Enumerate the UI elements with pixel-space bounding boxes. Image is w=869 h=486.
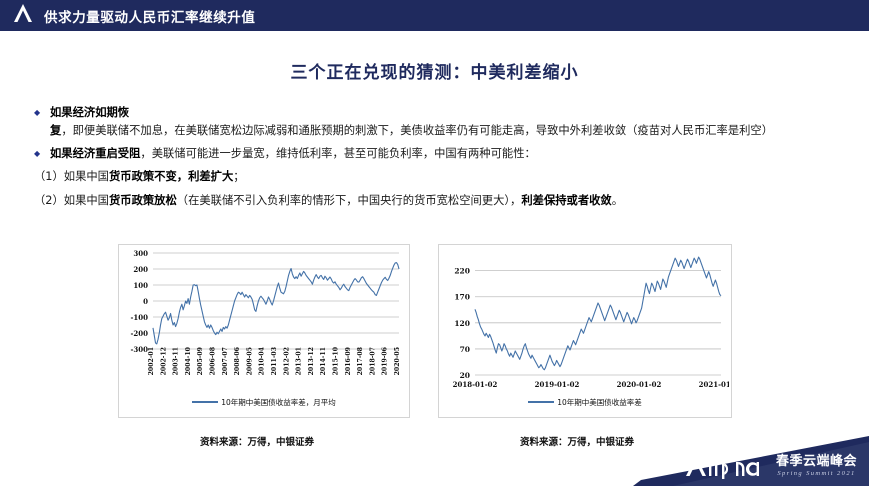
svg-text:2009-05: 2009-05 [246, 347, 253, 375]
footer-brand: 春季云端峰会 Spring Summit 2021 [633, 436, 869, 486]
numbered-tail: ； [233, 170, 244, 183]
bullet-item: ◆ 如果经济如期恢复，即便美联储不加息，在美联储宽松边际减弱和通胀预期的刺激下，… [30, 104, 848, 140]
svg-text:2021-01-02: 2021-01-02 [699, 380, 729, 389]
numbered-tail: 。 [612, 194, 623, 207]
page-title: 供求力量驱动人民币汇率继续升值 [44, 6, 256, 26]
alpha-triangle-logo-icon [12, 3, 34, 28]
svg-text:300: 300 [133, 249, 148, 258]
chart-legend: 10年期中美国债收益率差 [439, 397, 731, 408]
numbered-bold-2: 利差保持或者收敛 [521, 194, 611, 207]
numbered-bold: 货币政策放松 [109, 194, 177, 207]
svg-text:120: 120 [454, 319, 470, 328]
diamond-bullet-icon: ◆ [30, 104, 50, 122]
svg-text:0: 0 [143, 297, 148, 306]
svg-text:-200: -200 [130, 329, 148, 338]
chart-panel-monthly-spread: 3002001000-100-200-3002002-012002-122003… [118, 244, 410, 418]
svg-text:2007-07: 2007-07 [222, 347, 229, 375]
bullet-bold-lead: 如果经济重启受阻 [50, 147, 140, 160]
svg-text:2015-10: 2015-10 [333, 346, 340, 375]
svg-text:2018-01-02: 2018-01-02 [453, 380, 498, 389]
bullet-text: 如果经济如期恢复，即便美联储不加息，在美联储宽松边际减弱和通胀预期的刺激下，美债… [50, 104, 848, 140]
svg-text:2014-11: 2014-11 [320, 347, 327, 375]
svg-text:2012-02: 2012-02 [283, 347, 290, 375]
footer-logo-group: 春季云端峰会 Spring Summit 2021 [684, 453, 857, 479]
svg-text:2019-06: 2019-06 [382, 347, 389, 375]
svg-text:220: 220 [454, 267, 470, 276]
source-caption-right: 资料来源：万得，中银证券 [520, 434, 634, 448]
svg-text:2020-05: 2020-05 [394, 347, 401, 375]
alpha-wordmark-icon [684, 453, 770, 479]
svg-text:2017-08: 2017-08 [357, 347, 364, 375]
bullet-item: ◆ 如果经济重启受阻，美联储可能进一步量宽，维持低利率，甚至可能负利率，中国有两… [30, 145, 848, 163]
bullet-rest: ，即便美联储不加息，在美联储宽松边际减弱和通胀预期的刺激下，美债收益率仍有可能走… [61, 124, 773, 137]
svg-text:170: 170 [454, 293, 470, 302]
svg-text:2002-12: 2002-12 [160, 347, 167, 375]
line-chart-daily: 22017012070202018-01-022019-01-022020-01… [439, 245, 729, 395]
summit-title-cn: 春季云端峰会 [776, 455, 857, 468]
svg-text:2020-01-02: 2020-01-02 [617, 380, 662, 389]
svg-text:2008-06: 2008-06 [234, 347, 241, 375]
legend-label: 10年期中美国债收益率差，月平均 [221, 398, 336, 407]
bullet-rest: ，美联储可能进一步量宽，维持低利率，甚至可能负利率，中国有两种可能性： [140, 147, 535, 160]
legend-line-swatch [192, 401, 218, 403]
svg-text:2003-11: 2003-11 [173, 347, 180, 375]
numbered-item: （2）如果中国货币政策放松（在美联储不引入负利率的情形下，中国央行的货币宽松空间… [30, 192, 848, 210]
chart-legend: 10年期中美国债收益率差，月平均 [119, 397, 409, 408]
svg-text:2010-04: 2010-04 [259, 346, 266, 375]
source-caption-left: 资料来源：万得，中银证券 [200, 434, 314, 448]
svg-text:2016-09: 2016-09 [345, 347, 352, 375]
app-header: 供求力量驱动人民币汇率继续升值 [0, 0, 869, 31]
svg-text:2004-10: 2004-10 [185, 346, 192, 375]
slide-subtitle: 三个正在兑现的猜测：中美利差缩小 [0, 58, 869, 83]
slide-body: ◆ 如果经济如期恢复，即便美联储不加息，在美联储宽松边际减弱和通胀预期的刺激下，… [30, 104, 848, 216]
svg-text:2005-09: 2005-09 [197, 347, 204, 375]
numbered-item: （1）如果中国货币政策不变，利差扩大； [30, 168, 848, 186]
line-chart-monthly: 3002001000-100-200-3002002-012002-122003… [119, 245, 407, 395]
diamond-bullet-icon: ◆ [30, 145, 50, 163]
summit-title-en: Spring Summit 2021 [776, 469, 857, 478]
svg-text:100: 100 [133, 281, 148, 290]
svg-text:-300: -300 [130, 345, 148, 354]
chart-panel-daily-spread: 22017012070202018-01-022019-01-022020-01… [438, 244, 732, 418]
numbered-bold: 货币政策不变，利差扩大 [109, 170, 233, 183]
legend-line-swatch [528, 401, 554, 403]
svg-text:20: 20 [460, 371, 470, 380]
svg-text:2013-12: 2013-12 [308, 347, 315, 375]
bullet-text: 如果经济重启受阻，美联储可能进一步量宽，维持低利率，甚至可能负利率，中国有两种可… [50, 145, 848, 163]
svg-text:2013-01: 2013-01 [296, 347, 303, 375]
summit-text-block: 春季云端峰会 Spring Summit 2021 [776, 455, 857, 478]
svg-text:2019-01-02: 2019-01-02 [535, 380, 580, 389]
numbered-lead: （1）如果中国 [34, 170, 109, 183]
svg-text:-100: -100 [130, 313, 148, 322]
numbered-mid: （在美联储不引入负利率的情形下，中国央行的货币宽松空间更大）， [177, 194, 522, 207]
svg-text:200: 200 [133, 265, 148, 274]
svg-text:2018-07: 2018-07 [369, 347, 376, 375]
svg-text:70: 70 [460, 345, 470, 354]
legend-label: 10年期中美国债收益率差 [557, 398, 642, 407]
svg-text:2002-01: 2002-01 [148, 347, 155, 375]
numbered-lead: （2）如果中国 [34, 194, 109, 207]
svg-text:2006-08: 2006-08 [210, 347, 217, 375]
svg-text:2011-03: 2011-03 [271, 347, 278, 375]
